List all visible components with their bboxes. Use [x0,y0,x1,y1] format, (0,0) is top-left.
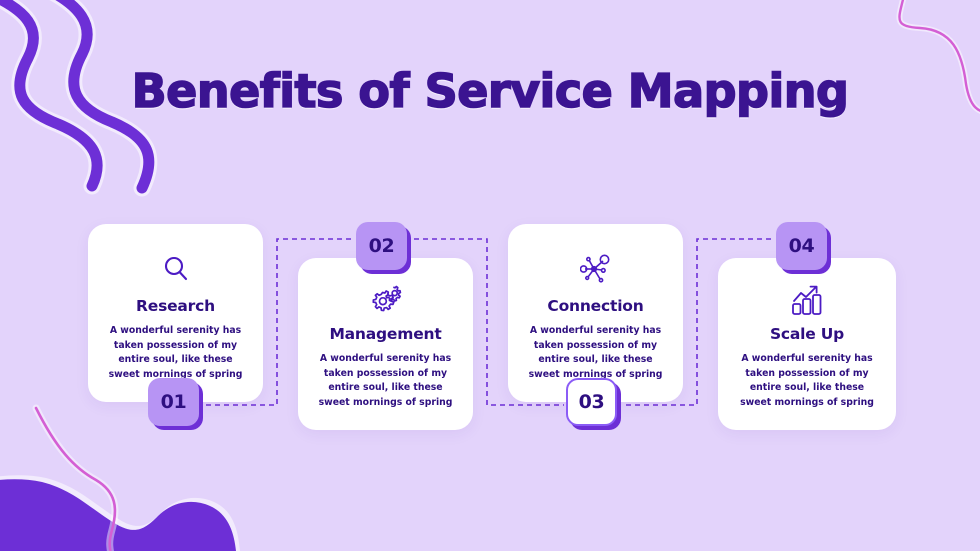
magnifier-icon [161,246,191,291]
badge-number: 02 [356,222,407,270]
badge-number: 04 [776,222,827,270]
badge-number: 03 [566,378,617,426]
step-badge-01[interactable]: 01 [148,378,203,430]
card-body: A wonderful serenity has taken possessio… [734,352,880,410]
benefit-card-connection[interactable]: Connection A wonderful serenity has take… [508,224,683,402]
gears-icon [369,280,403,319]
badge-number: 01 [148,378,199,426]
step-badge-04[interactable]: 04 [776,222,831,274]
benefit-card-research[interactable]: Research A wonderful serenity has taken … [88,224,263,402]
card-body: A wonderful serenity has taken possessio… [524,324,667,382]
growth-bar-chart-icon [790,280,824,319]
benefit-card-management[interactable]: Management A wonderful serenity has take… [298,258,473,430]
card-title: Connection [547,297,643,315]
benefit-card-scale-up[interactable]: Scale Up A wonderful serenity has taken … [718,258,896,430]
card-body: A wonderful serenity has taken possessio… [104,324,247,382]
network-nodes-icon [580,246,612,291]
card-title: Research [136,297,215,315]
step-badge-03[interactable]: 03 [566,378,621,430]
step-badge-02[interactable]: 02 [356,222,411,274]
card-title: Management [329,325,441,343]
slide-canvas: Benefits of Service Mapping Research A w… [0,0,980,551]
card-title: Scale Up [770,325,844,343]
card-body: A wonderful serenity has taken possessio… [314,352,457,410]
